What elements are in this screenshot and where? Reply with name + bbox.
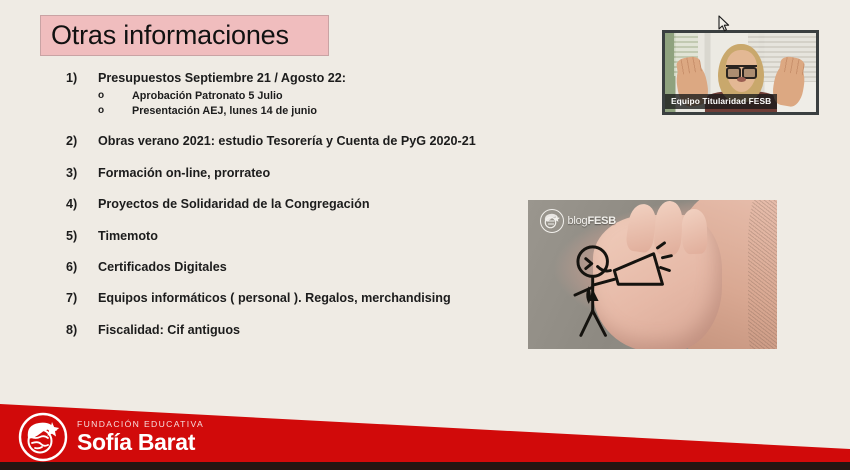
list-item-number: 5) bbox=[66, 228, 98, 244]
blogfesb-logo-mark-icon bbox=[540, 209, 564, 233]
footer-subtitle: FUNDACIÓN EDUCATIVA bbox=[77, 420, 204, 429]
sub-bullet-marker: o bbox=[98, 104, 132, 119]
list-item: 2) Obras verano 2021: estudio Tesorería … bbox=[66, 133, 506, 149]
finger bbox=[682, 209, 708, 255]
list-item-number: 2) bbox=[66, 133, 98, 149]
video-participant-tile[interactable]: Equipo Titularidad FESB bbox=[662, 30, 819, 115]
participant-mouth bbox=[737, 77, 746, 82]
slide-title-box: Otras informaciones bbox=[40, 15, 329, 56]
list-item-text: Timemoto bbox=[98, 228, 506, 244]
footer-text-block: FUNDACIÓN EDUCATIVA Sofía Barat bbox=[77, 420, 204, 455]
stick-figure-with-megaphone-icon bbox=[560, 240, 675, 338]
list-item: 7) Equipos informáticos ( personal ). Re… bbox=[66, 290, 506, 306]
sub-list-item: o Aprobación Patronato 5 Julio bbox=[98, 89, 506, 104]
list-item: 6) Certificados Digitales bbox=[66, 259, 506, 275]
list-item-number: 7) bbox=[66, 290, 98, 306]
list-item-text: Proyectos de Solidaridad de la Congregac… bbox=[98, 196, 506, 212]
slide-body-list: 1) Presupuestos Septiembre 21 / Agosto 2… bbox=[66, 70, 506, 338]
list-item: 8) Fiscalidad: Cif antiguos bbox=[66, 322, 506, 338]
list-item-text: Presupuestos Septiembre 21 / Agosto 22: bbox=[98, 70, 506, 86]
list-item-text: Equipos informáticos ( personal ). Regal… bbox=[98, 290, 506, 306]
list-item: 5) Timemoto bbox=[66, 228, 506, 244]
page-title: Otras informaciones bbox=[41, 22, 289, 49]
glasses-icon bbox=[726, 65, 757, 76]
list-item: 3) Formación on-line, prorrateo bbox=[66, 165, 506, 181]
list-item-text: Certificados Digitales bbox=[98, 259, 506, 275]
blogfesb-logo-text: blogFESB bbox=[567, 215, 616, 227]
list-item-text: Obras verano 2021: estudio Tesorería y C… bbox=[98, 133, 506, 149]
blogfesb-logo: blogFESB bbox=[540, 209, 616, 233]
blogfesb-illustration: blogFESB bbox=[528, 200, 777, 349]
list-item: 4) Proyectos de Solidaridad de la Congre… bbox=[66, 196, 506, 212]
sub-list-item: o Presentación AEJ, lunes 14 de junio bbox=[98, 104, 506, 119]
sub-list-item-text: Presentación AEJ, lunes 14 de junio bbox=[132, 104, 506, 119]
footer-branding: FUNDACIÓN EDUCATIVA Sofía Barat bbox=[18, 412, 204, 462]
list-item-number: 6) bbox=[66, 259, 98, 275]
list-item-number: 3) bbox=[66, 165, 98, 181]
sub-bullet-marker: o bbox=[98, 89, 132, 104]
participant-name-label: Equipo Titularidad FESB bbox=[665, 94, 777, 109]
list-item: 1) Presupuestos Septiembre 21 / Agosto 2… bbox=[66, 70, 506, 86]
presentation-slide: Otras informaciones 1) Presupuestos Sept… bbox=[0, 0, 850, 470]
list-item-number: 4) bbox=[66, 196, 98, 212]
stubble-texture bbox=[748, 200, 777, 349]
list-item-number: 8) bbox=[66, 322, 98, 338]
footer-title: Sofía Barat bbox=[77, 431, 204, 454]
sofia-barat-logo-icon bbox=[18, 412, 68, 462]
list-item-number: 1) bbox=[66, 70, 98, 86]
mouse-cursor-icon bbox=[718, 15, 730, 33]
sub-list-item-text: Aprobación Patronato 5 Julio bbox=[132, 89, 506, 104]
list-item-text: Formación on-line, prorrateo bbox=[98, 165, 506, 181]
bottom-strip bbox=[0, 462, 850, 470]
list-item-text: Fiscalidad: Cif antiguos bbox=[98, 322, 506, 338]
